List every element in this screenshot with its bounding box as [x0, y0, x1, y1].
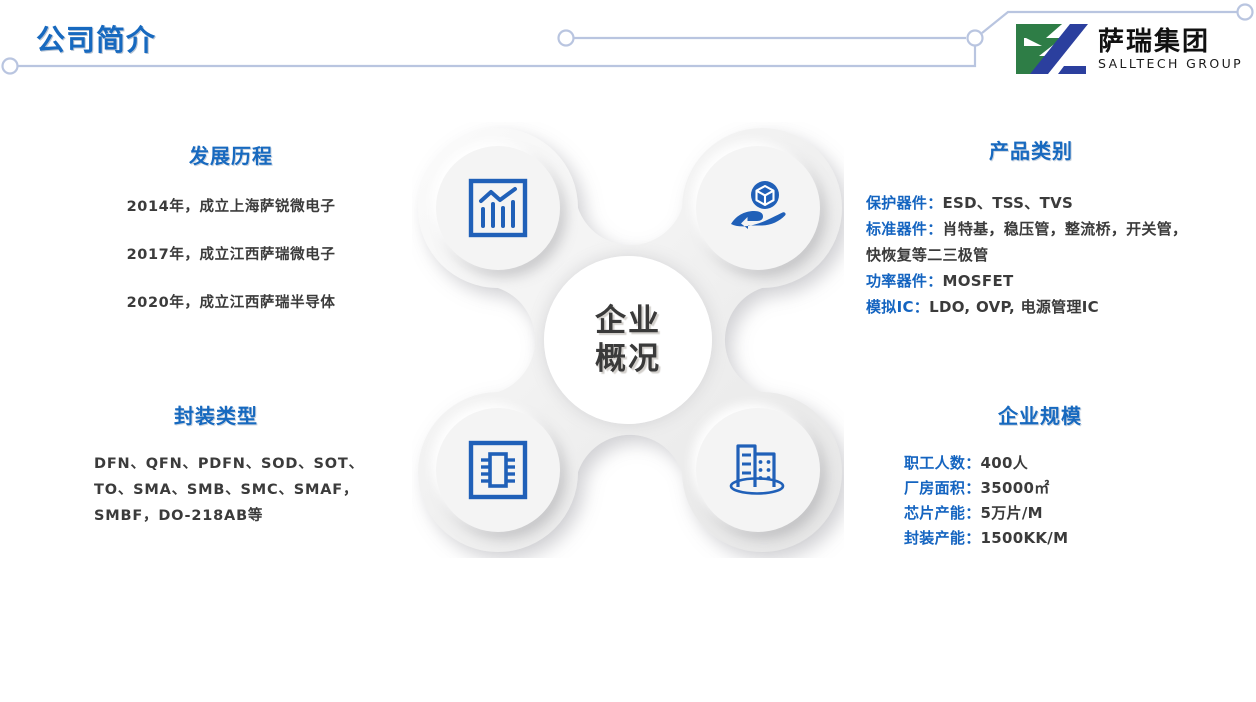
center-label-line1: 企业: [595, 302, 661, 340]
company-logo: 萨瑞集团 SALLTECH GROUP: [1012, 18, 1248, 80]
product-value: ESD、TSS、TVS: [943, 194, 1074, 212]
product-row: 功率器件：MOSFET: [866, 268, 1196, 294]
product-value: MOSFET: [943, 272, 1014, 290]
section-package-types: 封装类型 DFN、QFN、PDFN、SOD、SOT、TO、SMA、SMB、SMC…: [66, 400, 366, 529]
product-label: 模拟IC：: [866, 298, 929, 316]
product-row: 标准器件：肖特基，稳压管，整流桥，开关管，快恢复等二三极管: [866, 216, 1196, 268]
scale-row: 职工人数：400人: [904, 451, 1190, 476]
scale-value: 35000㎡: [981, 479, 1050, 497]
deco-node-junction: [968, 31, 983, 46]
slide-header: 公司简介 萨瑞集团 SALLTECH GROUP: [0, 0, 1256, 96]
product-value: LDO, OVP, 电源管理IC: [929, 298, 1099, 316]
scale-label: 封装产能：: [904, 529, 981, 547]
logo-name-cn: 萨瑞集团: [1098, 28, 1243, 56]
package-types-body: DFN、QFN、PDFN、SOD、SOT、TO、SMA、SMB、SMC、SMAF…: [66, 451, 366, 529]
buildings-icon: [725, 439, 791, 501]
section-company-scale: 企业规模 职工人数：400人 厂房面积：35000㎡ 芯片产能：5万片/M 封装…: [890, 400, 1190, 551]
history-item-3: 2020年，成立江西萨瑞半导体: [66, 291, 396, 312]
deco-node-left: [3, 59, 18, 74]
history-item-2: 2017年，成立江西萨瑞微电子: [66, 243, 396, 264]
center-label-circle: 企业 概况: [544, 256, 712, 424]
salltech-logo-mark-icon: [1012, 22, 1090, 76]
scale-label: 职工人数：: [904, 454, 981, 472]
section-heading-package: 封装类型: [66, 400, 366, 429]
chip-icon: [467, 439, 529, 501]
scale-value: 400人: [981, 454, 1029, 472]
badge-bar-chart[interactable]: [436, 146, 560, 270]
section-heading-scale: 企业规模: [890, 400, 1190, 429]
scale-label: 厂房面积：: [904, 479, 981, 497]
logo-text-block: 萨瑞集团 SALLTECH GROUP: [1098, 28, 1243, 71]
scale-value: 5万片/M: [981, 504, 1043, 522]
product-row: 保护器件：ESD、TSS、TVS: [866, 190, 1196, 216]
deco-node-mid: [559, 31, 574, 46]
company-overview-diagram: 企业 概况: [412, 122, 844, 558]
product-row: 模拟IC：LDO, OVP, 电源管理IC: [866, 294, 1196, 320]
logo-name-en: SALLTECH GROUP: [1098, 57, 1243, 71]
scale-rows: 职工人数：400人 厂房面积：35000㎡ 芯片产能：5万片/M 封装产能：15…: [890, 451, 1190, 551]
badge-chip[interactable]: [436, 408, 560, 532]
product-label: 标准器件：: [866, 220, 943, 238]
scale-label: 芯片产能：: [904, 504, 981, 522]
section-heading-products: 产品类别: [866, 135, 1196, 164]
bar-chart-icon: [467, 177, 529, 239]
hand-package-icon: [727, 177, 789, 239]
product-rows: 保护器件：ESD、TSS、TVS 标准器件：肖特基，稳压管，整流桥，开关管，快恢…: [866, 190, 1196, 320]
center-label-line2: 概况: [595, 340, 661, 378]
section-development-history: 发展历程 2014年，成立上海萨锐微电子 2017年，成立江西萨瑞微电子 202…: [66, 140, 396, 339]
scale-value: 1500KK/M: [981, 529, 1069, 547]
badge-buildings[interactable]: [696, 408, 820, 532]
history-item-1: 2014年，成立上海萨锐微电子: [66, 195, 396, 216]
product-label: 功率器件：: [866, 272, 943, 290]
scale-row: 芯片产能：5万片/M: [904, 501, 1190, 526]
section-heading-history: 发展历程: [66, 140, 396, 169]
slide-root: 公司简介 萨瑞集团 SALLTECH GROUP 发展历程 2014年，成立上海…: [0, 0, 1256, 702]
scale-row: 厂房面积：35000㎡: [904, 476, 1190, 501]
badge-hand-package[interactable]: [696, 146, 820, 270]
product-label: 保护器件：: [866, 194, 943, 212]
scale-row: 封装产能：1500KK/M: [904, 526, 1190, 551]
page-title: 公司简介: [36, 17, 156, 59]
section-product-categories: 产品类别 保护器件：ESD、TSS、TVS 标准器件：肖特基，稳压管，整流桥，开…: [866, 135, 1196, 320]
